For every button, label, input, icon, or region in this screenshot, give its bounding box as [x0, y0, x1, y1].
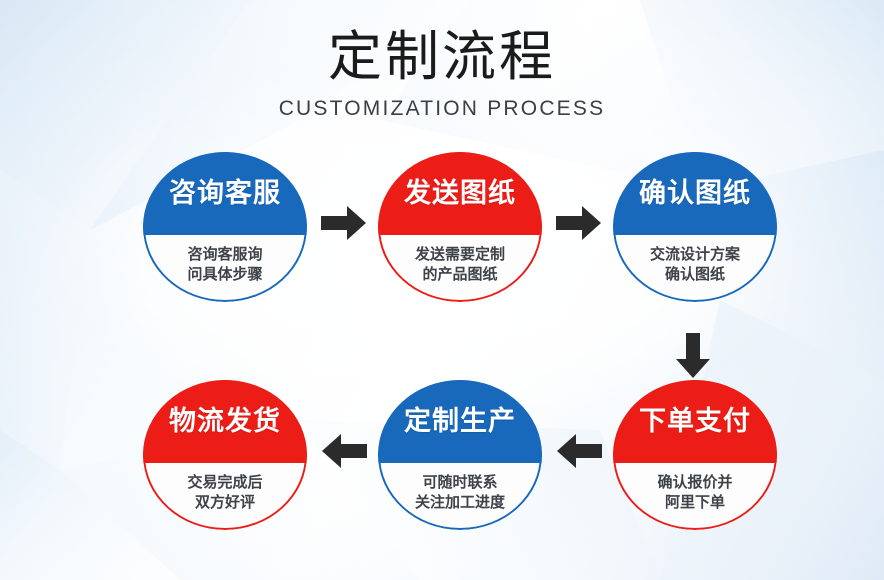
- step-body-line-1: 咨询客服询: [187, 245, 262, 265]
- step-body-line-1: 交流设计方案: [650, 245, 740, 265]
- step-body-band: 可随时联系 关注加工进度: [378, 463, 542, 531]
- step-body-line-2: 关注加工进度: [415, 493, 505, 513]
- page-title: 定制流程: [0, 26, 884, 88]
- step-heading: 物流发货: [169, 406, 281, 436]
- step-heading-band: 发送图纸: [378, 152, 542, 235]
- step-body-line-1: 发送需要定制: [415, 245, 505, 265]
- step-heading-band: 定制生产: [378, 380, 542, 463]
- step-heading: 下单支付: [639, 406, 751, 436]
- step-body-line-2: 问具体步骤: [187, 265, 262, 285]
- arrow-left-icon: [556, 432, 602, 470]
- process-step-place-order-pay[interactable]: 下单支付 确认报价并 阿里下单: [613, 380, 777, 530]
- page-subtitle: CUSTOMIZATION PROCESS: [0, 96, 884, 122]
- arrow-left-icon: [321, 432, 367, 470]
- step-heading-band: 咨询客服: [143, 152, 307, 235]
- step-heading-band: 下单支付: [613, 380, 777, 463]
- step-heading: 确认图纸: [639, 178, 751, 208]
- process-flow-diagram: 咨询客服 咨询客服询 问具体步骤 发送图纸 发送需要定制 的产品图纸 确认图纸: [0, 148, 884, 558]
- step-body-line-2: 确认图纸: [665, 265, 725, 285]
- step-body-line-2: 双方好评: [195, 493, 255, 513]
- step-heading-band: 物流发货: [143, 380, 307, 463]
- process-step-confirm-drawings[interactable]: 确认图纸 交流设计方案 确认图纸: [613, 152, 777, 302]
- step-heading: 咨询客服: [169, 178, 281, 208]
- step-heading: 发送图纸: [404, 178, 516, 208]
- step-body-line-1: 交易完成后: [187, 473, 262, 493]
- step-body-band: 确认报价并 阿里下单: [613, 463, 777, 531]
- process-step-send-drawings[interactable]: 发送图纸 发送需要定制 的产品图纸: [378, 152, 542, 302]
- customization-process-banner: 定制流程 CUSTOMIZATION PROCESS 咨询客服 咨询客服询 问具…: [0, 0, 884, 580]
- process-step-logistics-shipping[interactable]: 物流发货 交易完成后 双方好评: [143, 380, 307, 530]
- step-body-band: 咨询客服询 问具体步骤: [143, 235, 307, 303]
- step-body-band: 交流设计方案 确认图纸: [613, 235, 777, 303]
- step-body-band: 交易完成后 双方好评: [143, 463, 307, 531]
- step-heading: 定制生产: [404, 406, 516, 436]
- step-body-line-2: 阿里下单: [665, 493, 725, 513]
- process-step-consult-support[interactable]: 咨询客服 咨询客服询 问具体步骤: [143, 152, 307, 302]
- step-body-line-2: 的产品图纸: [422, 265, 497, 285]
- step-body-line-1: 确认报价并: [657, 473, 732, 493]
- step-heading-band: 确认图纸: [613, 152, 777, 235]
- arrow-right-icon: [556, 204, 602, 242]
- banner-header: 定制流程 CUSTOMIZATION PROCESS: [0, 26, 884, 122]
- step-body-line-1: 可随时联系: [422, 473, 497, 493]
- arrow-right-icon: [321, 204, 367, 242]
- process-step-custom-production[interactable]: 定制生产 可随时联系 关注加工进度: [378, 380, 542, 530]
- step-body-band: 发送需要定制 的产品图纸: [378, 235, 542, 303]
- arrow-down-icon: [674, 333, 712, 379]
